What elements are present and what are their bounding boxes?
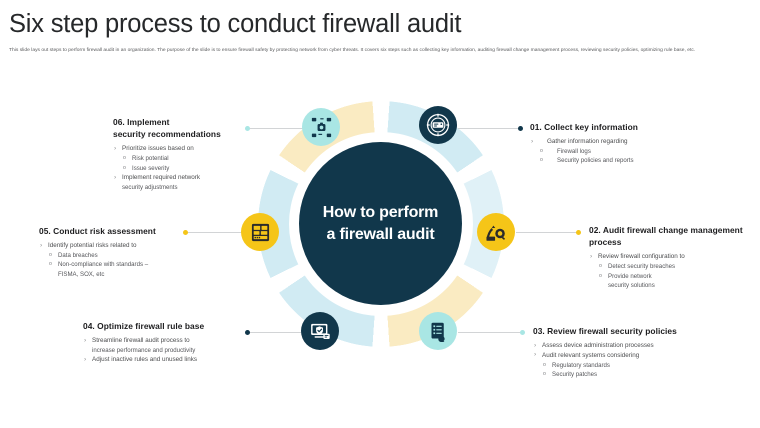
step-bullets-01: Gather information regarding Firewall lo… (530, 137, 730, 166)
bullet-item: Security policies and reports (530, 156, 730, 165)
hub-label: How to perform a firewall audit (309, 202, 452, 245)
bullet-item: Identify potential risks related to (39, 241, 229, 251)
step-bullets-02: Review firewall configuration to Detect … (589, 252, 749, 290)
page-subtitle: This slide lays out steps to perform fir… (9, 46, 748, 55)
connector-dot-06 (245, 126, 250, 131)
security-settings-icon (311, 117, 332, 138)
bullet-item: security adjustments (113, 183, 263, 192)
bullet-item: Data breaches (39, 251, 229, 260)
process-wheel: How to perform a firewall audit (253, 96, 508, 351)
bullet-item: Detect security breaches (589, 262, 749, 271)
step-badge-04[interactable] (301, 312, 339, 350)
step-block-04: 04. Optimize firewall rule base Streamli… (83, 320, 263, 365)
step-badge-06[interactable] (302, 108, 340, 146)
connector-dot-03 (520, 330, 525, 335)
bullet-item: Gather information regarding (530, 137, 730, 147)
step-title-03: 03. Review firewall security policies (533, 325, 743, 337)
step-block-06: 06. Implement security recommendations P… (113, 116, 263, 192)
step-block-02: 02. Audit firewall change management pro… (589, 224, 749, 290)
step-title-02-text: 02. Audit firewall change management pro… (589, 225, 743, 247)
connector-dot-02 (576, 230, 581, 235)
bullet-item: Security patches (533, 370, 743, 379)
bullet-item: security solutions (589, 281, 749, 290)
bullet-item: Review firewall configuration to (589, 252, 749, 262)
bullet-item: Firewall logs (530, 147, 730, 156)
step-bullets-06: Prioritize issues based on Risk potentia… (113, 144, 263, 192)
bullet-item: Assess device administration processes (533, 341, 743, 351)
page-title: Six step process to conduct firewall aud… (9, 10, 748, 39)
bullet-item: Prioritize issues based on (113, 144, 263, 154)
step-title-06-line1: 06. Implement (113, 117, 170, 127)
step-bullets-05: Identify potential risks related to Data… (39, 241, 229, 279)
checklist-icon (428, 321, 449, 342)
step-title-02: 02. Audit firewall change management pro… (589, 224, 749, 248)
hub-line-1: How to perform (323, 204, 438, 221)
hub-line-2: a firewall audit (327, 226, 435, 243)
connector-line-06 (248, 128, 304, 129)
step-title-04: 04. Optimize firewall rule base (83, 320, 263, 332)
connector-line-01 (458, 128, 518, 129)
header: Six step process to conduct firewall aud… (9, 10, 748, 55)
server-rack-icon (250, 222, 271, 243)
step-badge-02[interactable] (477, 213, 515, 251)
slide-root: Six step process to conduct firewall aud… (0, 0, 760, 428)
bullet-item: Issue severity (113, 164, 263, 173)
connector-dot-01 (518, 126, 523, 131)
step-block-01: 01. Collect key information Gather infor… (530, 121, 730, 166)
connector-line-05 (186, 232, 242, 233)
bullet-item: Non-compliance with standards – (39, 260, 229, 269)
connector-line-02 (516, 232, 578, 233)
step-bullets-04: Streamline firewall audit process to inc… (83, 336, 263, 365)
bullet-item: Implement required network (113, 173, 263, 183)
wheel-hub: How to perform a firewall audit (299, 142, 462, 305)
step-title-06-line2: security recommendations (113, 129, 221, 139)
connector-dot-04 (245, 330, 250, 335)
connector-line-03 (458, 332, 520, 333)
bullet-item: FISMA, SOX, etc (39, 270, 229, 279)
bullet-item: Provide network (589, 272, 749, 281)
step-badge-01[interactable] (419, 106, 457, 144)
bullet-item: Adjust inactive rules and unused links (83, 355, 263, 365)
step-title-06: 06. Implement security recommendations (113, 116, 263, 140)
monitor-shield-icon (309, 320, 332, 343)
bullet-item: Audit relevant systems considering (533, 351, 743, 361)
step-title-01: 01. Collect key information (530, 121, 730, 133)
bullet-item: Risk potential (113, 154, 263, 163)
step-bullets-03: Assess device administration processes A… (533, 341, 743, 379)
bullet-item: Regulatory standards (533, 361, 743, 370)
step-block-03: 03. Review firewall security policies As… (533, 325, 743, 380)
server-target-icon (426, 113, 450, 137)
connector-line-04 (249, 332, 303, 333)
step-badge-03[interactable] (419, 312, 457, 350)
connector-dot-05 (183, 230, 188, 235)
network-search-icon (485, 221, 507, 243)
bullet-item: Streamline firewall audit process to (83, 336, 263, 346)
step-block-05: 05. Conduct risk assessment Identify pot… (39, 225, 229, 279)
step-badge-05[interactable] (241, 213, 279, 251)
bullet-item: increase performance and productivity (83, 346, 263, 355)
